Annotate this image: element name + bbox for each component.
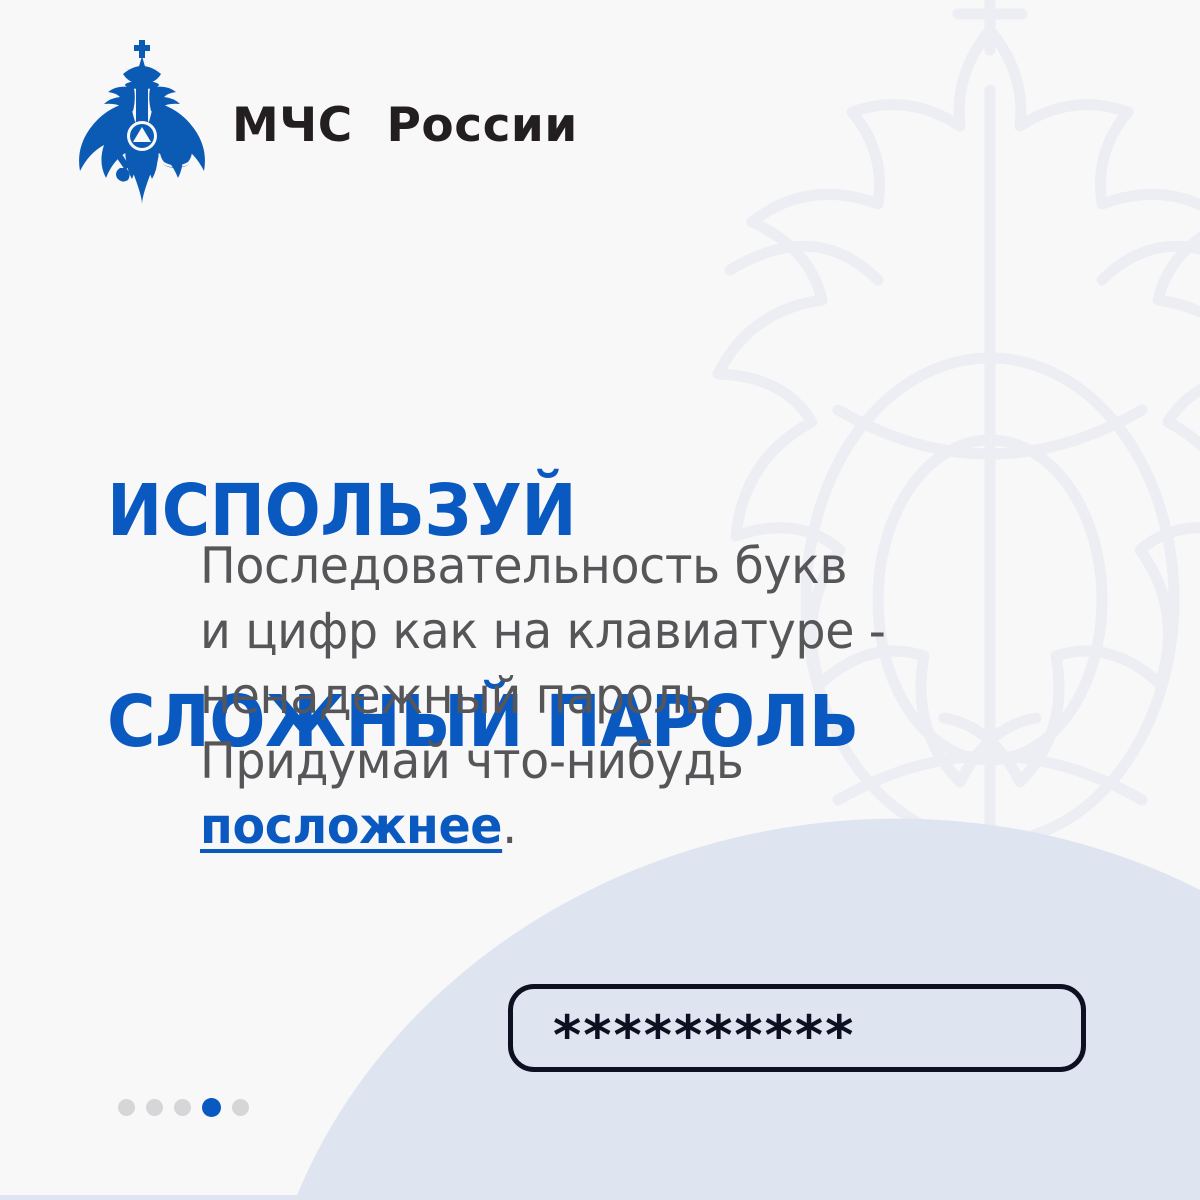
password-masked-value: ********** [553, 1009, 855, 1063]
carousel-dot-4[interactable] [202, 1098, 221, 1117]
brand-logo: МЧС России [78, 36, 578, 208]
carousel-dot-5[interactable] [232, 1099, 249, 1116]
body-line-3: ненадежный пароль. [200, 664, 941, 729]
password-input[interactable]: ********** [508, 984, 1086, 1072]
body-line-4: Придумай что-нибудь [200, 729, 941, 794]
posloznee-link[interactable]: посложнее [200, 797, 502, 855]
carousel-pagination[interactable] [118, 1098, 249, 1117]
poster-canvas: МЧС России ИСПОЛЬЗУЙ СЛОЖНЫЙ ПАРОЛЬ Посл… [0, 0, 1200, 1200]
carousel-dot-2[interactable] [146, 1099, 163, 1116]
body-line-5-period: . [502, 797, 517, 855]
body-line-1: Последовательность букв [200, 534, 941, 599]
body-line-2: и цифр как на клавиатуре - [200, 599, 941, 664]
mchs-eagle-emblem-icon [78, 36, 206, 208]
background-blob-base [0, 1195, 1200, 1200]
carousel-dot-3[interactable] [174, 1099, 191, 1116]
brand-wordmark: МЧС России [232, 102, 578, 149]
carousel-dot-1[interactable] [118, 1099, 135, 1116]
body-line-5: посложнее. [200, 794, 941, 859]
body-copy: Последовательность букв и цифр как на кл… [200, 534, 941, 859]
